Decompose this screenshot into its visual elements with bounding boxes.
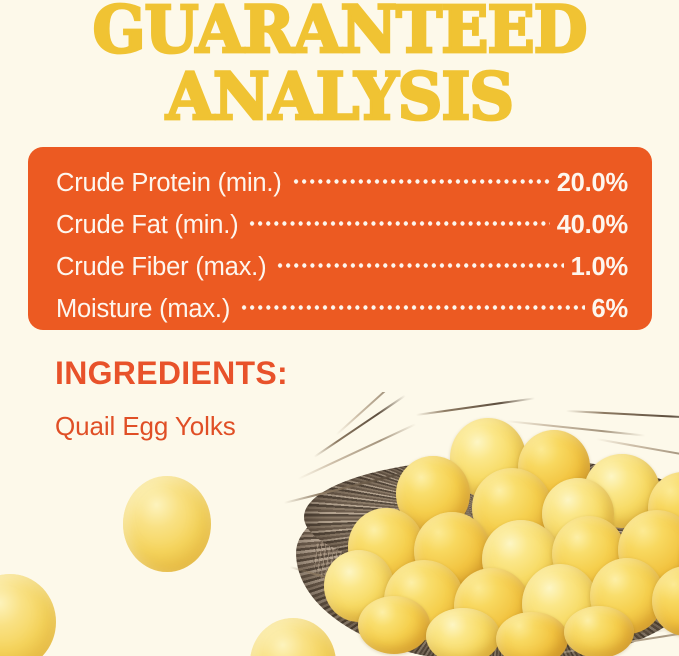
nutrient-label: Crude Fiber (max.) [56, 253, 266, 282]
dot-leader [292, 165, 550, 191]
title-line-guaranteed: GUARANTEED [0, 0, 679, 62]
floating-yolk [123, 476, 211, 572]
table-row: Moisture (max.) 6% [56, 291, 628, 333]
table-row: Crude Protein (min.) 20.0% [56, 165, 628, 207]
page-title: GUARANTEED ANALYSIS [0, 0, 679, 122]
nutrient-value: 20.0% [557, 169, 628, 198]
table-row: Crude Fiber (max.) 1.0% [56, 249, 628, 291]
egg-yolk [426, 608, 500, 656]
nutrient-label: Moisture (max.) [56, 295, 230, 324]
nutrient-label: Crude Protein (min.) [56, 169, 282, 198]
product-label-page: GUARANTEED ANALYSIS Crude Protein (min.)… [0, 0, 679, 656]
nest-twig [506, 420, 645, 436]
dot-leader [248, 207, 549, 233]
ingredients-heading: INGREDIENTS: [55, 355, 288, 392]
nutrient-label: Crude Fat (min.) [56, 211, 238, 240]
dot-leader [240, 291, 584, 317]
birds-nest [296, 416, 679, 656]
dot-leader [276, 249, 563, 275]
nutrient-value: 6% [592, 295, 628, 324]
title-line-analysis: ANALYSIS [0, 65, 679, 129]
nutrient-value: 1.0% [571, 253, 628, 282]
guaranteed-analysis-box: Crude Protein (min.) 20.0% Crude Fat (mi… [28, 147, 652, 330]
nutrient-value: 40.0% [557, 211, 628, 240]
ingredients-list: Quail Egg Yolks [55, 411, 236, 442]
table-row: Crude Fat (min.) 40.0% [56, 207, 628, 249]
egg-yolk [564, 606, 634, 656]
egg-yolk [358, 596, 430, 654]
